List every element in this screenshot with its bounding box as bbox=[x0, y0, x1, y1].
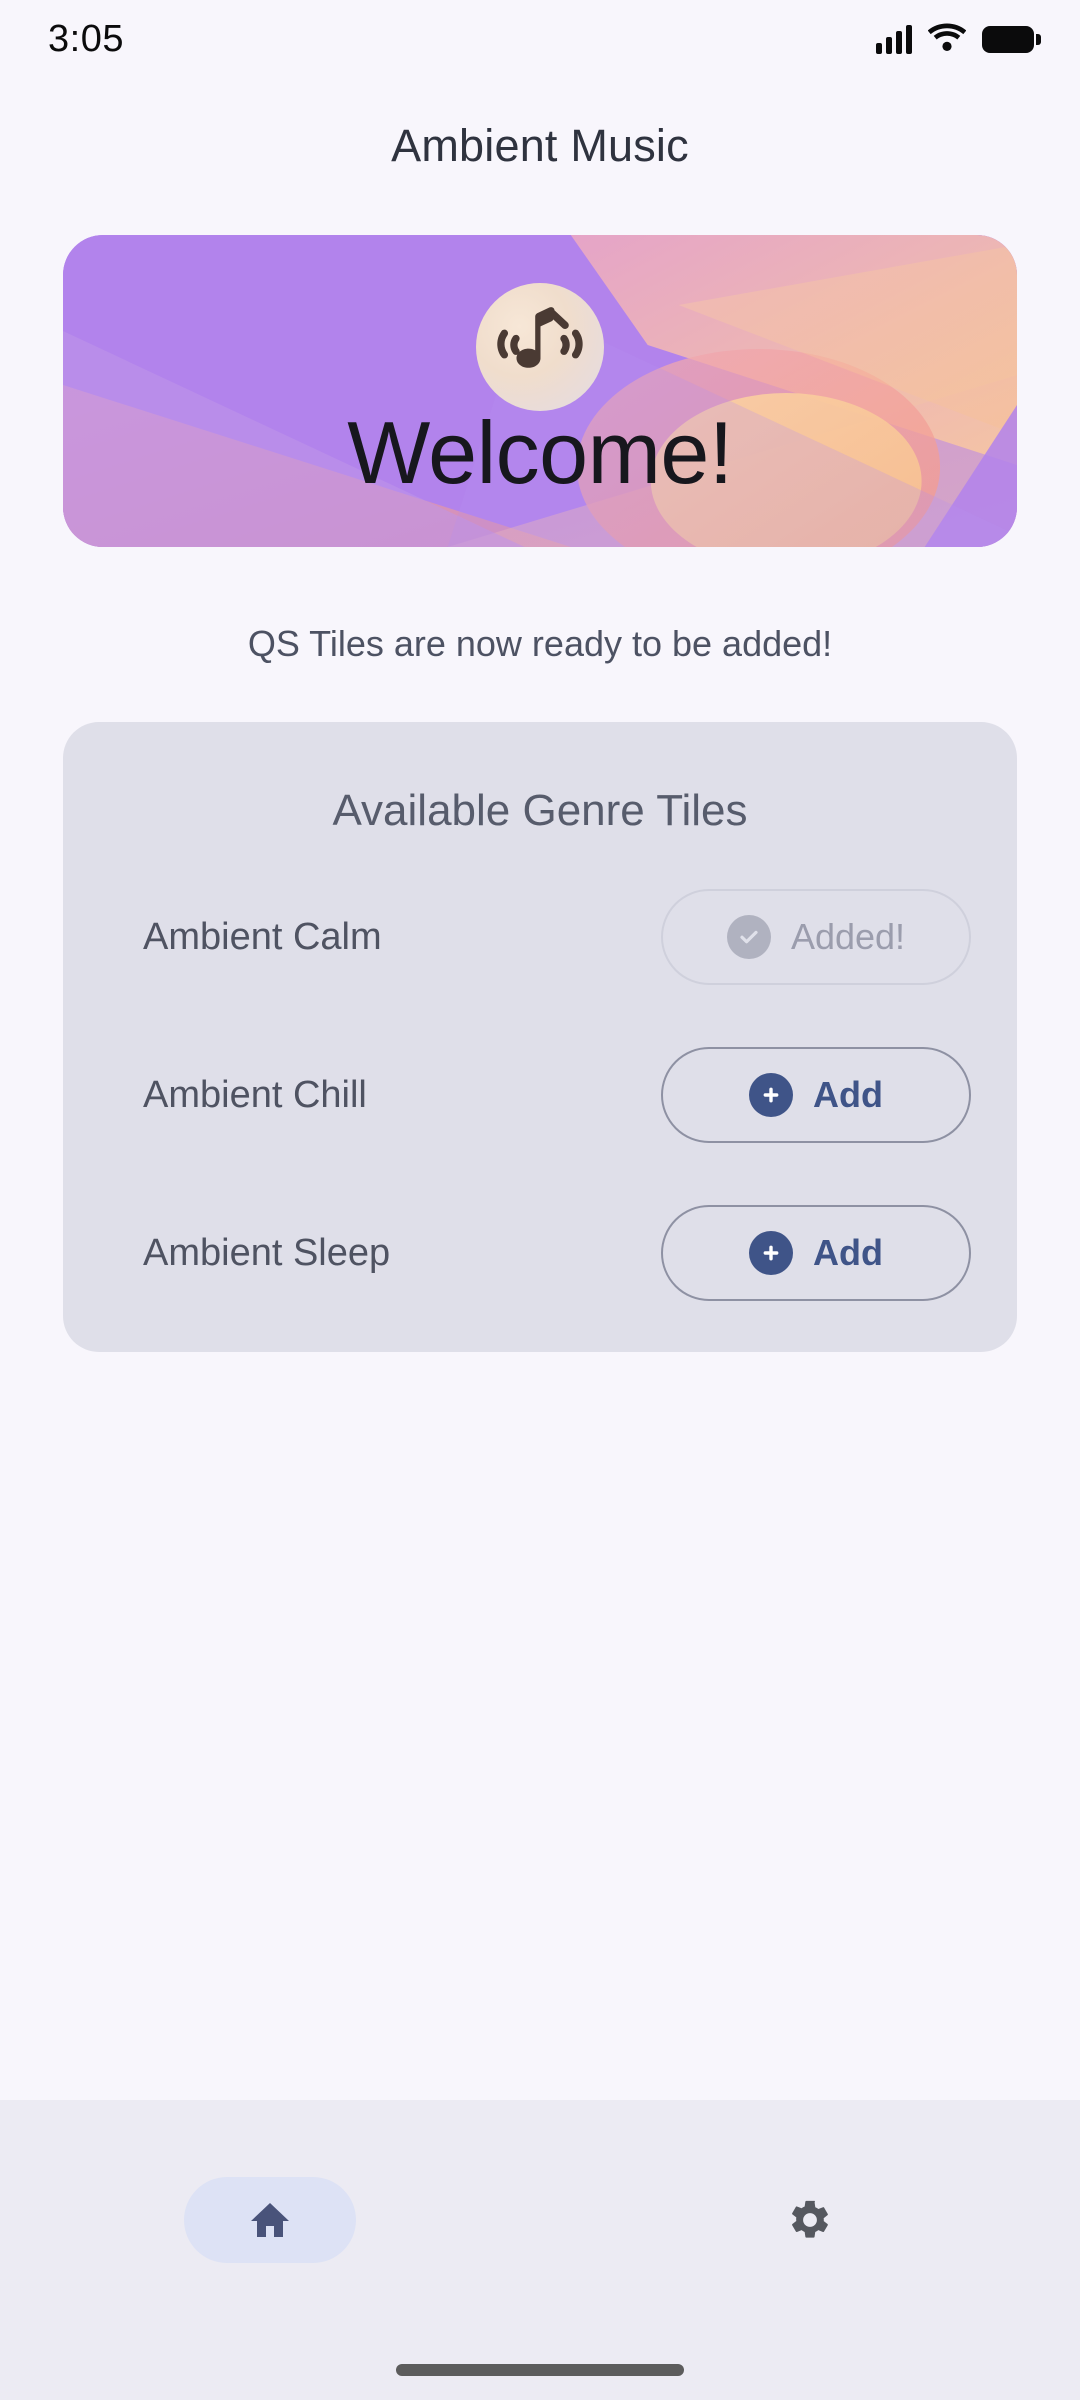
nav-item-settings[interactable] bbox=[540, 2197, 1080, 2243]
welcome-heading: Welcome! bbox=[347, 407, 733, 499]
bottom-nav-items bbox=[0, 2100, 1080, 2340]
home-icon bbox=[247, 2197, 293, 2243]
check-circle-icon bbox=[727, 915, 771, 959]
status-icons bbox=[876, 22, 1034, 57]
add-button-label: Add bbox=[813, 1074, 883, 1116]
cellular-signal-icon bbox=[876, 24, 912, 54]
add-button-ambient-chill[interactable]: Add bbox=[661, 1047, 971, 1143]
banner-content: Welcome! bbox=[63, 283, 1017, 499]
available-genre-tiles-card: Available Genre Tiles Ambient Calm Added… bbox=[63, 722, 1017, 1352]
welcome-banner: Welcome! bbox=[63, 235, 1017, 547]
table-row: Ambient Chill Add bbox=[63, 1040, 1017, 1150]
wifi-icon bbox=[928, 22, 966, 57]
status-bar: 3:05 bbox=[0, 0, 1080, 78]
add-button-label: Add bbox=[813, 1232, 883, 1274]
table-row: Ambient Calm Added! bbox=[63, 882, 1017, 992]
tile-name-label: Ambient Sleep bbox=[143, 1232, 390, 1275]
tile-name-label: Ambient Chill bbox=[143, 1074, 367, 1117]
welcome-banner-wrapper: Welcome! bbox=[63, 235, 1017, 547]
gesture-handle[interactable] bbox=[0, 2340, 1080, 2400]
content-spacer bbox=[0, 1352, 1080, 2100]
plus-circle-icon bbox=[749, 1073, 793, 1117]
gear-icon bbox=[787, 2197, 833, 2243]
battery-icon bbox=[982, 26, 1034, 53]
bottom-navigation-bar bbox=[0, 2100, 1080, 2400]
card-title: Available Genre Tiles bbox=[63, 786, 1017, 836]
add-button-ambient-sleep[interactable]: Add bbox=[661, 1205, 971, 1301]
app-screen: 3:05 Ambient Music bbox=[0, 0, 1080, 2400]
added-button-ambient-calm: Added! bbox=[661, 889, 971, 985]
plus-circle-icon bbox=[749, 1231, 793, 1275]
status-time: 3:05 bbox=[48, 18, 124, 61]
status-message: QS Tiles are now ready to be added! bbox=[0, 623, 1080, 665]
added-button-label: Added! bbox=[791, 916, 905, 958]
nav-item-home[interactable] bbox=[0, 2177, 540, 2263]
handle-bar bbox=[396, 2364, 684, 2376]
tile-name-label: Ambient Calm bbox=[143, 916, 382, 959]
nav-active-indicator bbox=[184, 2177, 356, 2263]
table-row: Ambient Sleep Add bbox=[63, 1198, 1017, 1308]
music-note-waves-icon bbox=[476, 283, 604, 411]
page-title: Ambient Music bbox=[0, 120, 1080, 172]
